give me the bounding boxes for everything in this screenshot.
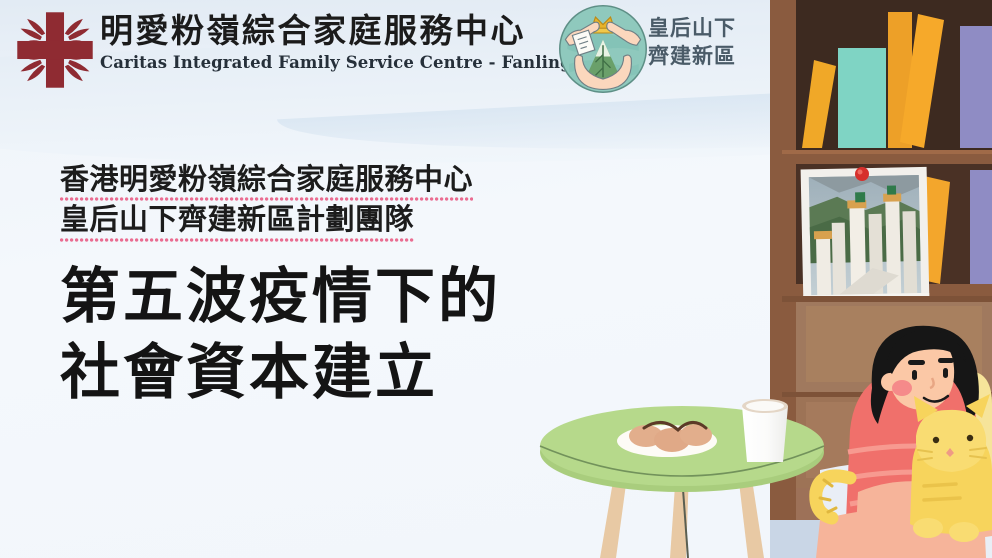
project-badge-line1: 皇后山下 (648, 14, 736, 42)
org-name-zh: 明愛粉嶺綜合家庭服務中心 (100, 12, 530, 50)
headline-line-2: 社會資本建立 (60, 335, 620, 412)
header: 明愛粉嶺綜合家庭服務中心 Caritas Integrated Family S… (0, 0, 760, 104)
organization-names: 明愛粉嶺綜合家庭服務中心 Caritas Integrated Family S… (100, 12, 530, 72)
headline: 第五波疫情下的 社會資本建立 (60, 259, 620, 413)
subtitle-line-2: 皇后山下齊建新區計劃團隊 (60, 200, 414, 240)
headline-line-1: 第五波疫情下的 (60, 259, 620, 336)
project-badge-text: 皇后山下 齊建新區 (648, 14, 736, 71)
project-badge-line2: 齊建新區 (648, 42, 736, 70)
presentation-slide: 明愛粉嶺綜合家庭服務中心 Caritas Integrated Family S… (0, 0, 992, 558)
hands-holding-mountain-crown-emblem-icon (556, 2, 650, 96)
subtitle-line-1: 香港明愛粉嶺綜合家庭服務中心 (60, 160, 473, 200)
project-badge: 皇后山下 齊建新區 (556, 2, 744, 98)
org-name-en: Caritas Integrated Family Service Centre… (100, 53, 530, 72)
caritas-cross-logo-icon (14, 8, 96, 92)
title-text-block: 香港明愛粉嶺綜合家庭服務中心 皇后山下齊建新區計劃團隊 第五波疫情下的 社會資本… (60, 160, 620, 412)
